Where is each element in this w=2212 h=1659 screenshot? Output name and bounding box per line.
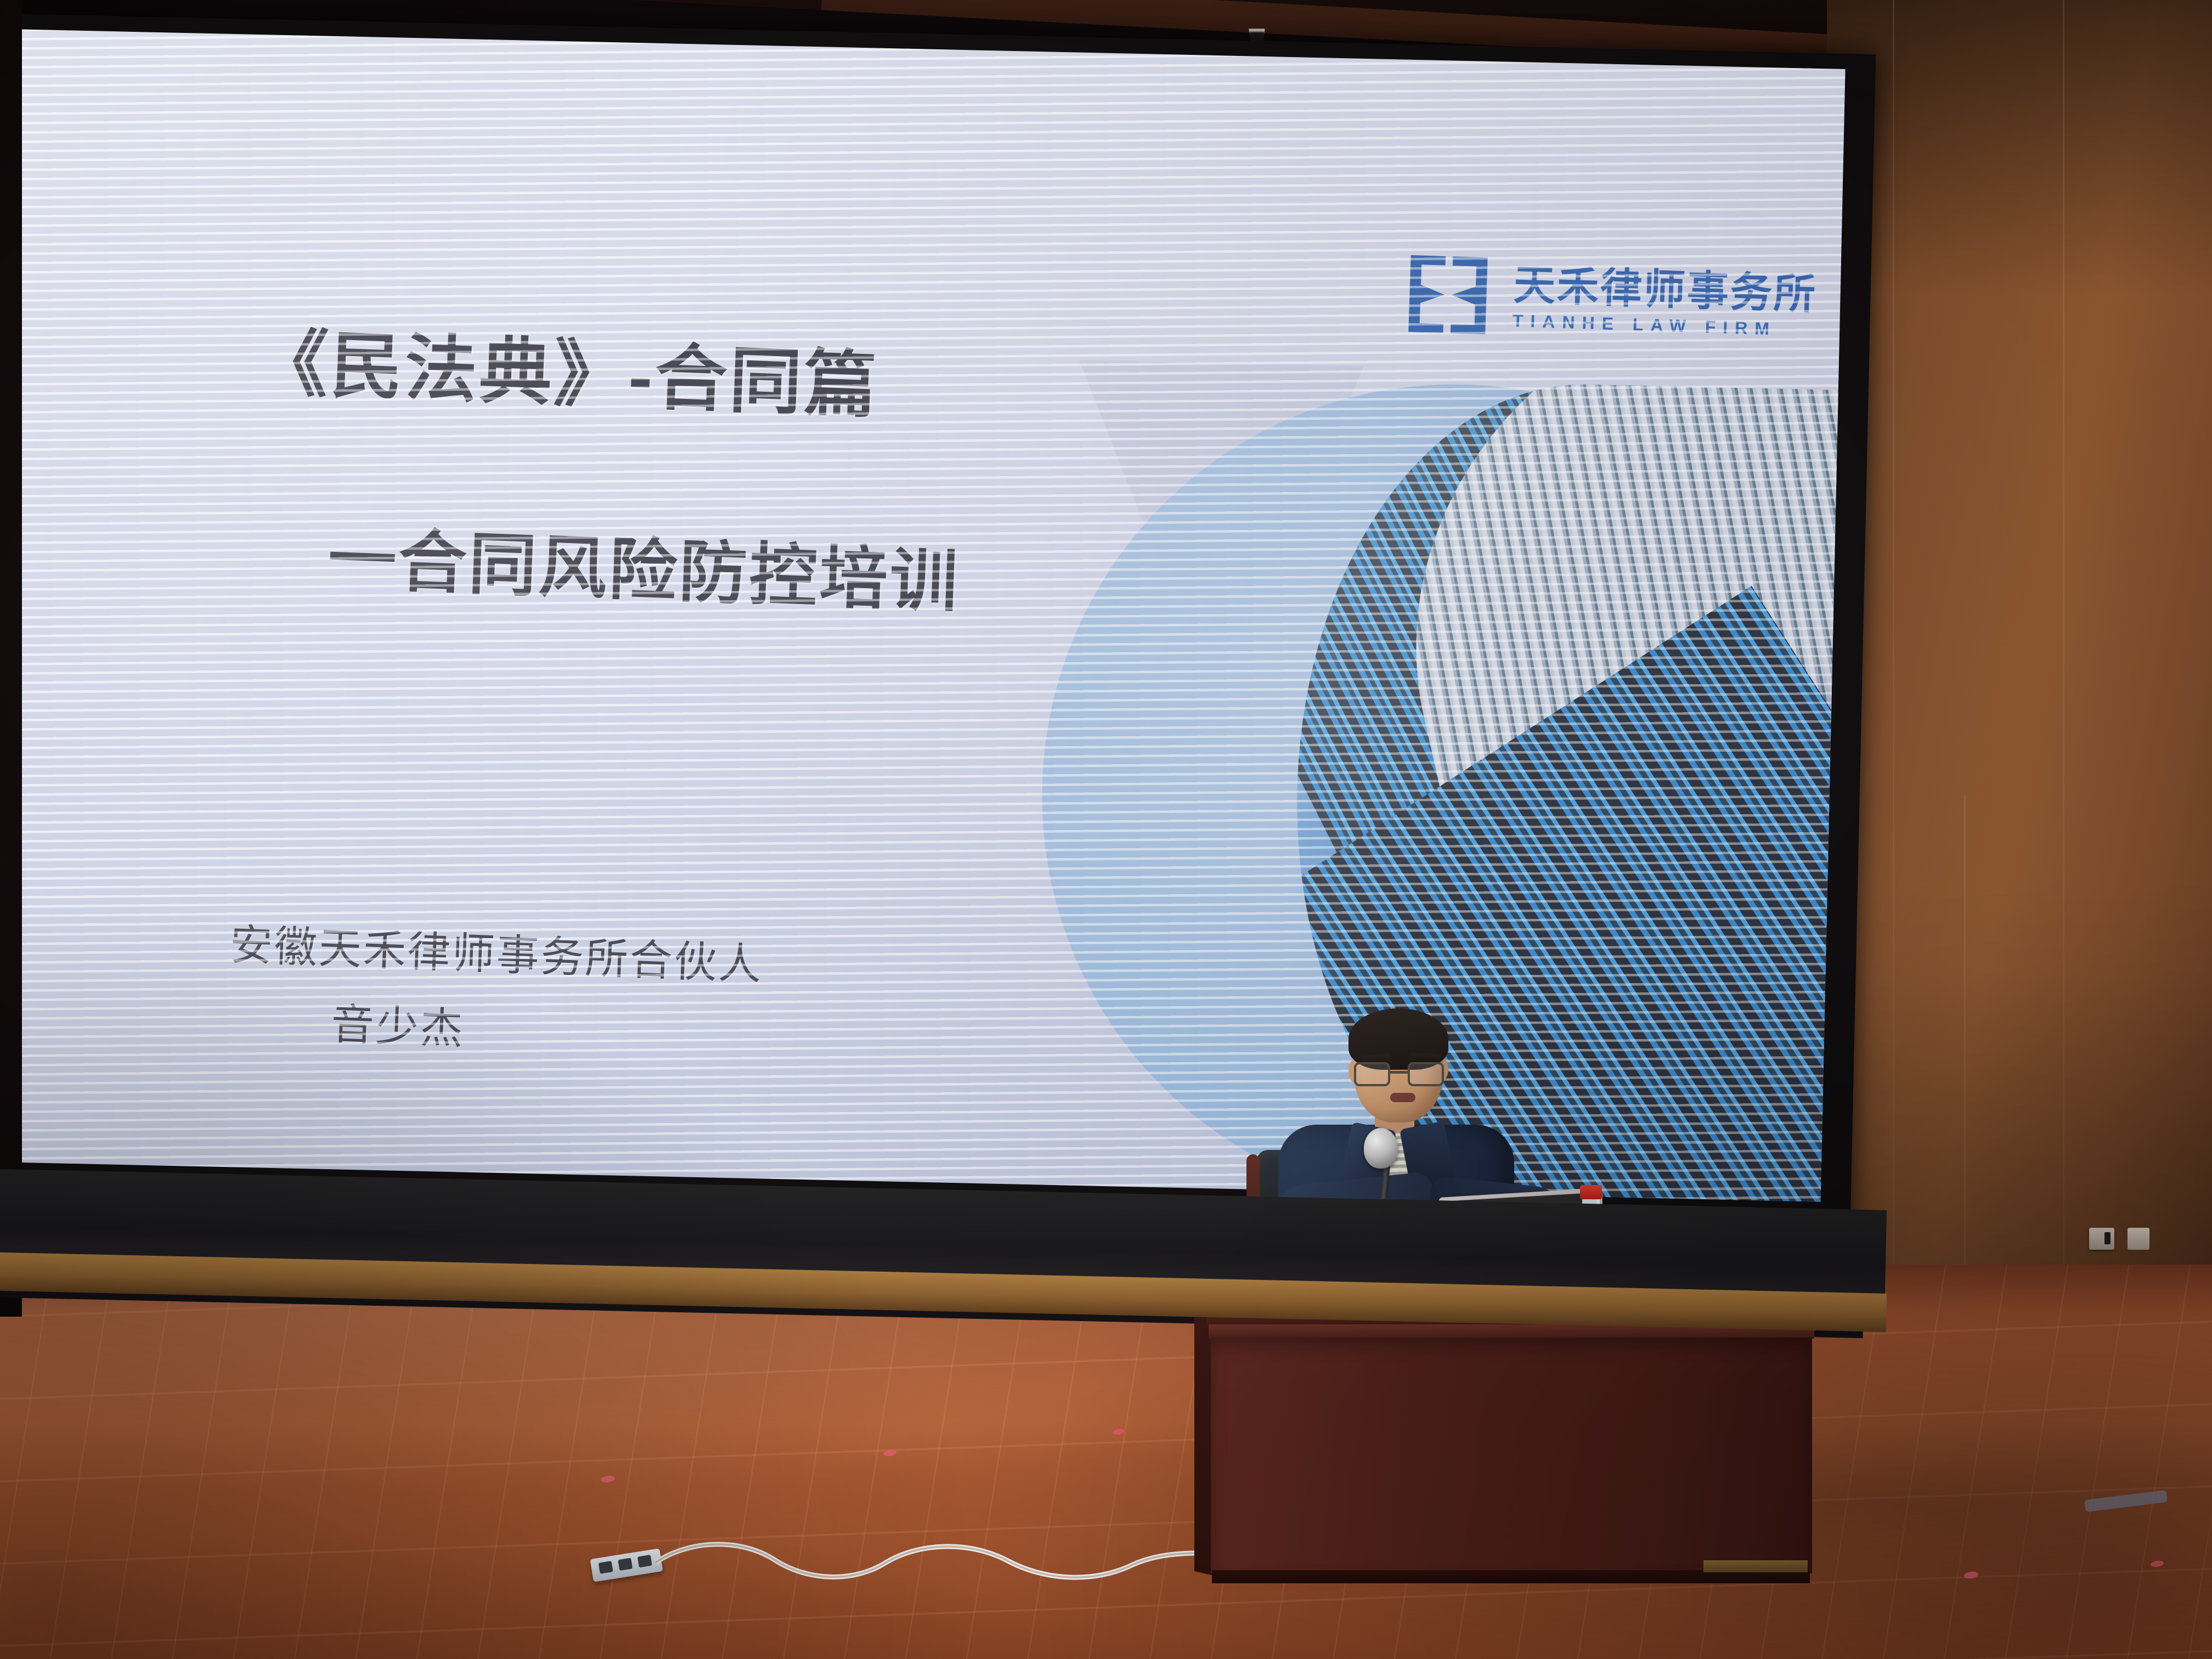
screenshot-root: 天禾律师事务所 TIANHE LAW FIRM 《民法典》-合同篇 一合同风险防… — [0, 0, 2212, 1659]
firm-logo: 天禾律师事务所 TIANHE LAW FIRM — [1400, 250, 1818, 351]
slide-presenter-block: 安徽天禾律师事务所合伙人 音少杰 — [226, 911, 764, 1068]
wall-seam-2 — [2063, 0, 2064, 1350]
firm-logo-wordmark: 天禾律师事务所 TIANHE LAW FIRM — [1512, 264, 1818, 339]
slide-presenter-name: 音少杰 — [330, 990, 761, 1068]
right-wood-wall — [1827, 0, 2212, 1350]
microphone-head-icon — [1364, 1128, 1398, 1169]
firm-logo-cn: 天禾律师事务所 — [1513, 264, 1818, 316]
slide-presenter-org: 安徽天禾律师事务所合伙人 — [229, 911, 764, 992]
speaker-glasses-icon — [1353, 1062, 1447, 1087]
led-screen: 天禾律师事务所 TIANHE LAW FIRM 《民法典》-合同篇 一合同风险防… — [0, 29, 1846, 1202]
wall-seam-1 — [1893, 0, 1894, 1350]
slide-title-sub: 一合同风险防控培训 — [326, 503, 962, 625]
podium-front-panel — [1211, 1338, 1812, 1573]
speaker-mouth — [1390, 1093, 1415, 1102]
water-bottle-cap — [1580, 1185, 1602, 1199]
slide-title-main: 《民法典》-合同篇 — [254, 304, 881, 432]
left-edge-shadow — [0, 0, 22, 1317]
tianhe-h-monogram-icon — [1400, 250, 1496, 340]
podium-desk — [1199, 1283, 1819, 1601]
wall-outlet-plate-1-icon[interactable] — [2089, 1228, 2114, 1250]
speaker-hair — [1348, 1008, 1448, 1070]
led-screen-frame: 天禾律师事务所 TIANHE LAW FIRM 《民法典》-合同篇 一合同风险防… — [0, 13, 1876, 1250]
podium-brass-trim — [1703, 1560, 1808, 1572]
wall-outlet-plate-2-icon[interactable] — [2128, 1228, 2149, 1250]
